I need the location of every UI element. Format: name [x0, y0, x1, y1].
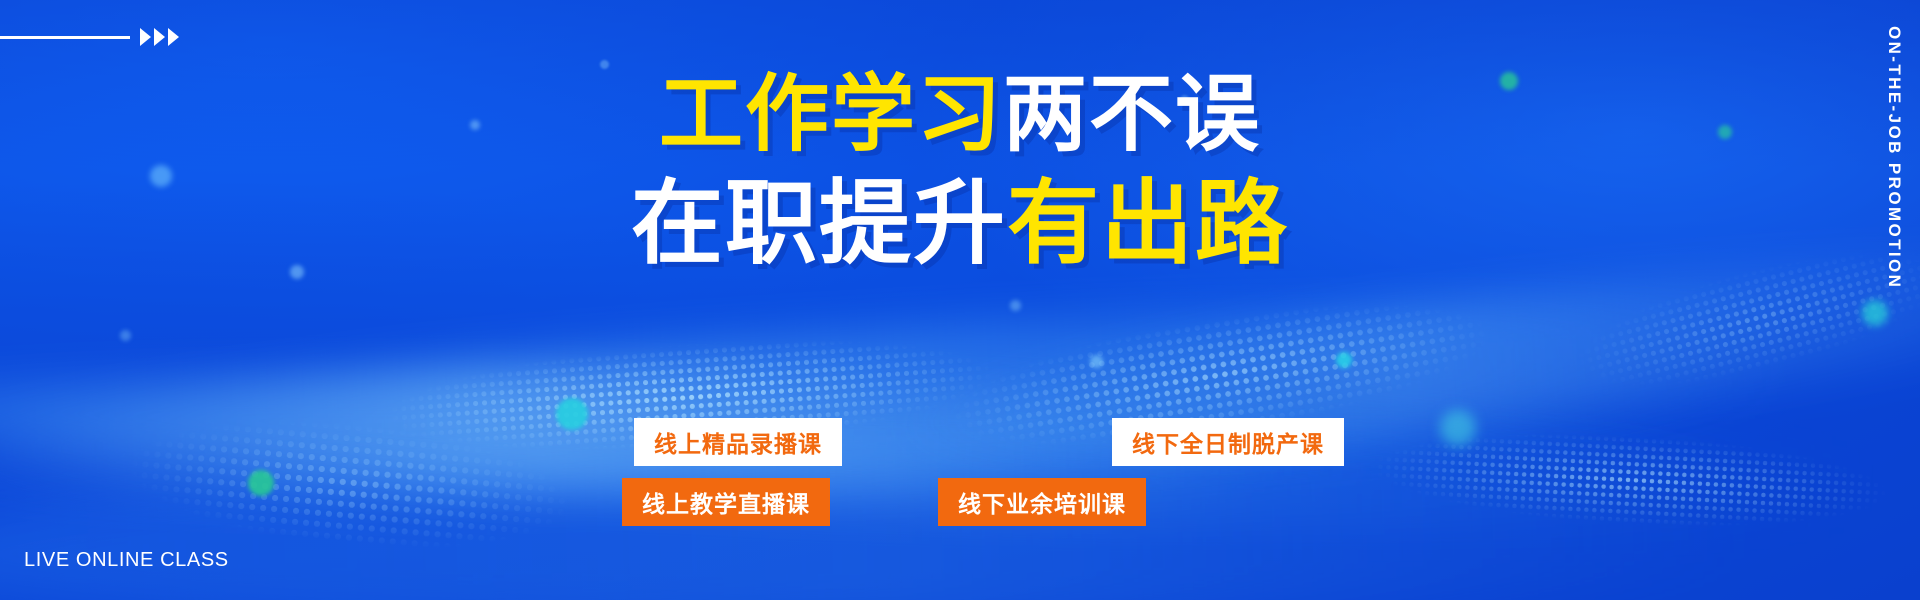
bokeh-dot	[1090, 355, 1103, 368]
course-tag[interactable]: 线下全日制脱产课	[1112, 418, 1344, 466]
headline-line-1: 工作学习两不误	[0, 72, 1920, 156]
headline-line-1-rest: 两不误	[1003, 65, 1261, 163]
bokeh-dot	[1862, 300, 1888, 326]
bottom-kicker-text: LIVE ONLINE CLASS	[24, 549, 229, 572]
course-tag-label: 线下全日制脱产课	[1132, 425, 1324, 459]
triangle-right-icon-group	[140, 28, 179, 46]
bokeh-dot	[1010, 300, 1021, 311]
triangle-right-icon	[168, 28, 179, 46]
triangle-right-icon	[140, 28, 151, 46]
headline-line-1-highlight: 工作学习	[659, 65, 1003, 163]
course-tag[interactable]: 线上教学直播课	[622, 478, 830, 526]
bokeh-dot	[600, 60, 609, 69]
horizontal-rule	[0, 36, 130, 39]
headline-line-2-rest: 在职提升	[631, 170, 1007, 277]
headline: 工作学习两不误 在职提升有出路	[0, 72, 1920, 270]
promo-banner: ON-THE-JOB PROMOTION 工作学习两不误 在职提升有出路 线上精…	[0, 0, 1920, 600]
course-tag-list: 线上精品录播课线下全日制脱产课线上教学直播课线下业余培训课	[0, 418, 1920, 568]
course-tag[interactable]: 线下业余培训课	[938, 478, 1146, 526]
headline-line-2-highlight: 有出路	[1007, 170, 1289, 277]
bokeh-dot	[120, 330, 131, 341]
bokeh-dot	[1336, 352, 1352, 368]
triangle-right-icon	[154, 28, 165, 46]
top-left-rule-and-arrows	[0, 28, 179, 46]
headline-line-2: 在职提升有出路	[0, 178, 1920, 270]
course-tag[interactable]: 线上精品录播课	[634, 418, 842, 466]
course-tag-label: 线下业余培训课	[958, 485, 1126, 519]
course-tag-label: 线上教学直播课	[642, 485, 810, 519]
course-tag-label: 线上精品录播课	[654, 425, 822, 459]
